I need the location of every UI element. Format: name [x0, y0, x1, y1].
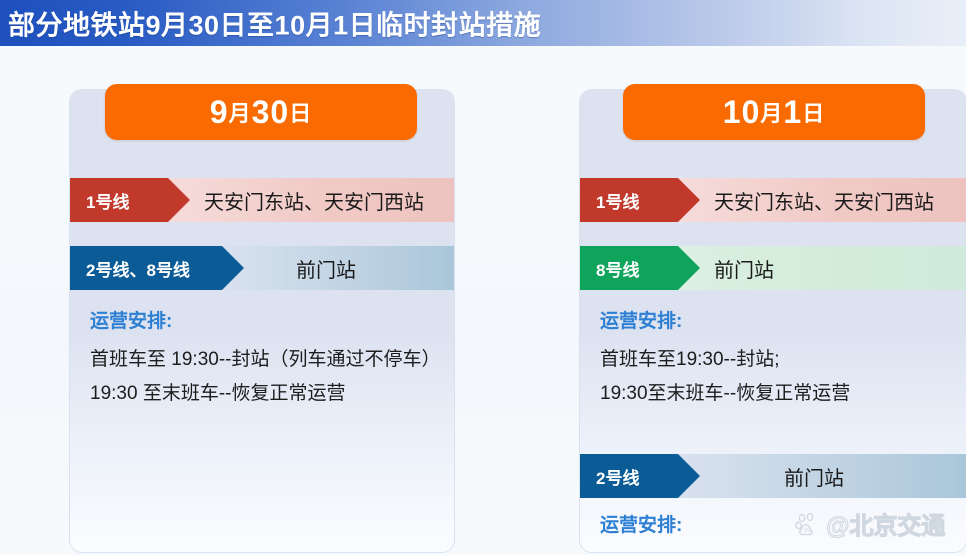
line-tag-line1: 1号线 — [580, 178, 678, 222]
content-canvas: 1号线 天安门东站、天安门西站 2号线、8号线 前门站 运营安排: 首班车至 1… — [0, 46, 966, 555]
operations-title: 运营安排: — [600, 306, 950, 333]
line-tag-line1: 1号线 — [70, 178, 168, 222]
watermark-text: @北京交通 — [826, 506, 945, 541]
date-card-oct01: 1号线 天安门东站、天安门西站 8号线 前门站 运营安排: 首班车至19:30-… — [580, 90, 966, 552]
date-pill-day-char: 日 — [802, 96, 825, 128]
line-row: 1号线 天安门东站、天安门西站 — [580, 178, 966, 222]
line-tag-label: 8号线 — [596, 256, 639, 281]
date-pill-number: 9 — [210, 94, 229, 131]
operations-line: 首班车至19:30--封站; — [600, 343, 950, 377]
date-pill-day: 1 — [783, 94, 802, 131]
line-tag-line2: 2号线 — [580, 454, 678, 498]
line-tag-label: 1号线 — [596, 188, 639, 213]
svg-text:du: du — [804, 528, 811, 534]
watermark: du @北京交通 — [795, 506, 945, 541]
operations-line: 19:30至末班车--恢复正常运营 — [600, 377, 950, 411]
line-tag-label: 2号线、8号线 — [86, 256, 190, 281]
date-pill-day: 30 — [252, 94, 290, 131]
line-stations-line2: 前门站 — [678, 454, 966, 498]
line-row: 2号线 前门站 — [580, 454, 966, 498]
date-pill-sep30: 9月30日 — [105, 84, 417, 140]
page-title: 部分地铁站9月30日至10月1日临时封站措施 — [8, 4, 541, 43]
line-tag-line8: 8号线 — [580, 246, 678, 290]
line-row: 2号线、8号线 前门站 — [70, 246, 454, 290]
date-pill-month-char: 月 — [760, 96, 783, 128]
line-row: 1号线 天安门东站、天安门西站 — [70, 178, 454, 222]
line-tag-label: 2号线 — [596, 464, 639, 489]
line-stations-line8: 前门站 — [678, 246, 966, 290]
line-stations-line1: 天安门东站、天安门西站 — [168, 178, 454, 222]
date-card-sep30: 1号线 天安门东站、天安门西站 2号线、8号线 前门站 运营安排: 首班车至 1… — [70, 90, 454, 552]
line-stations-line1: 天安门东站、天安门西站 — [678, 178, 966, 222]
operations-title: 运营安排: — [90, 306, 434, 333]
line-row: 8号线 前门站 — [580, 246, 966, 290]
line-stations-line2-line8: 前门站 — [222, 246, 454, 290]
operations-line: 全天封站 — [600, 547, 950, 552]
date-pill-day-char: 日 — [289, 96, 312, 128]
line-tag-line2-line8: 2号线、8号线 — [70, 246, 222, 290]
date-pill-month-char: 月 — [229, 96, 252, 128]
baidu-paw-icon: du — [795, 511, 821, 537]
operations-block: 运营安排: 首班车至 19:30--封站（列车通过不停车） 19:30 至末班车… — [90, 306, 434, 411]
operations-line: 首班车至 19:30--封站（列车通过不停车） — [90, 343, 434, 377]
date-pill-number: 10 — [723, 94, 761, 131]
line-tag-label: 1号线 — [86, 188, 129, 213]
operations-block: 运营安排: 首班车至19:30--封站; 19:30至末班车--恢复正常运营 — [600, 306, 950, 411]
date-pill-oct01: 10月1日 — [623, 84, 925, 140]
operations-line: 19:30 至末班车--恢复正常运营 — [90, 377, 434, 411]
header-bar: 部分地铁站9月30日至10月1日临时封站措施 — [0, 0, 966, 46]
